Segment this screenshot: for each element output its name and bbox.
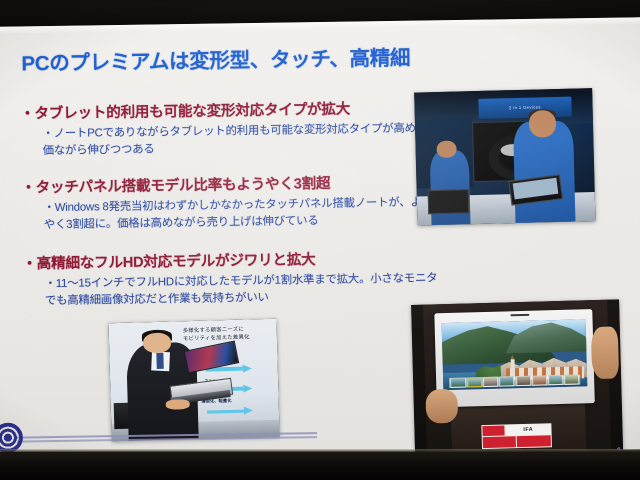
ifa-badge-red-block: [482, 425, 505, 436]
booth-banner: 2 in 1 Devices: [478, 97, 571, 119]
photo-trade-show-booth: 2 in 1 Devices: [414, 88, 595, 225]
bullet-heading-3: ・高精細なフルHD対応モデルがジワリと拡大: [22, 246, 442, 273]
bullet-block-2: ・タッチパネル搭載モデル比率もようやく3割超 ・Windows 8発売当初はわず…: [21, 170, 442, 233]
room-floor-shadow: [0, 452, 640, 480]
presenter-arrow-2: [243, 384, 252, 392]
ifa-badge-red-small: [482, 436, 516, 448]
ifa-badge-red-small: [517, 436, 551, 448]
ifa-badge-row-top: IFA: [482, 424, 551, 437]
tablet-left-hand: [426, 389, 458, 423]
thumbnail-item[interactable]: [483, 377, 498, 387]
photo-large-tablet: IFA: [411, 299, 623, 457]
bullet-subtext-1: ・ノートPCでありながらタブレット的利用も可能な変形対応タイプが高めの単価ながら…: [42, 120, 440, 159]
bullet-subtext-3: ・11〜15インチでフルHDに対応したモデルが1割水準まで拡大。小さなモニタでも…: [45, 270, 443, 309]
ifa-badge-row-bottom: [482, 436, 551, 449]
page-title: PCのプレミアムは変形型、タッチ、高精細: [21, 39, 491, 76]
photo-presenter: 多様化する顧客ニーズにモビリティを加えた差異化 操作性 ストレージ 薄型化、軽量…: [109, 319, 280, 442]
tablet-device: [434, 309, 595, 407]
thumbnail-item[interactable]: [564, 375, 579, 385]
photo-church-tower: [510, 359, 515, 374]
bullet-heading-2: ・タッチパネル搭載モデル比率もようやく3割超: [21, 170, 441, 197]
bullet-subtext-2: ・Windows 8発売当初はわずかしかなかったタッチパネル搭載ノートが、ようや…: [43, 194, 441, 233]
booth-staff-head: [529, 110, 556, 137]
tablet-screen: [442, 319, 588, 391]
tablet-sensor-bar: [510, 314, 529, 317]
tablet-right-hand: [591, 327, 619, 379]
presenter-tie: [156, 352, 163, 369]
booth-laptop-screen: [512, 177, 558, 198]
thumbnail-item-selected[interactable]: [467, 377, 482, 387]
bullet-block-1: ・タブレット的利用も可能な変形対応タイプが拡大 ・ノートPCでありながらタブレッ…: [20, 96, 441, 159]
screen-bottom-edge: [0, 449, 640, 452]
presenter-arrow-1: [242, 364, 251, 372]
ifa-badge-text: IFA: [505, 424, 550, 436]
booth-staff-background: [430, 150, 471, 225]
bullet-block-3: ・高精細なフルHD対応モデルがジワリと拡大 ・11〜15インチでフルHDに対応し…: [22, 246, 443, 309]
thumbnail-item[interactable]: [451, 378, 466, 388]
booth-laptop-background: [427, 190, 469, 214]
thumbnail-item[interactable]: [516, 376, 531, 386]
thumbnail-item[interactable]: [532, 376, 547, 386]
booth-banner-text: 2 in 1 Devices: [478, 97, 571, 119]
ifa-badge: IFA: [481, 423, 552, 449]
presenter-arrow-3: [244, 407, 253, 415]
thumbnail-item[interactable]: [499, 376, 514, 386]
slide-content: PCのプレミアムは変形型、タッチ、高精細 ・タブレット的利用も可能な変形対応タイ…: [0, 17, 640, 459]
screenshot-stage: PCのプレミアムは変形型、タッチ、高精細 ・タブレット的利用も可能な変形対応タイ…: [0, 0, 640, 480]
bullet-heading-1: ・タブレット的利用も可能な変形対応タイプが拡大: [20, 96, 440, 123]
slide-surface: PCのプレミアムは変形型、タッチ、高精細 ・タブレット的利用も可能な変形対応タイ…: [0, 17, 640, 459]
presenter-head: [142, 332, 171, 353]
projected-slide: PCのプレミアムは変形型、タッチ、高精細 ・タブレット的利用も可能な変形対応タイ…: [0, 17, 640, 459]
thumbnail-item[interactable]: [548, 375, 563, 385]
